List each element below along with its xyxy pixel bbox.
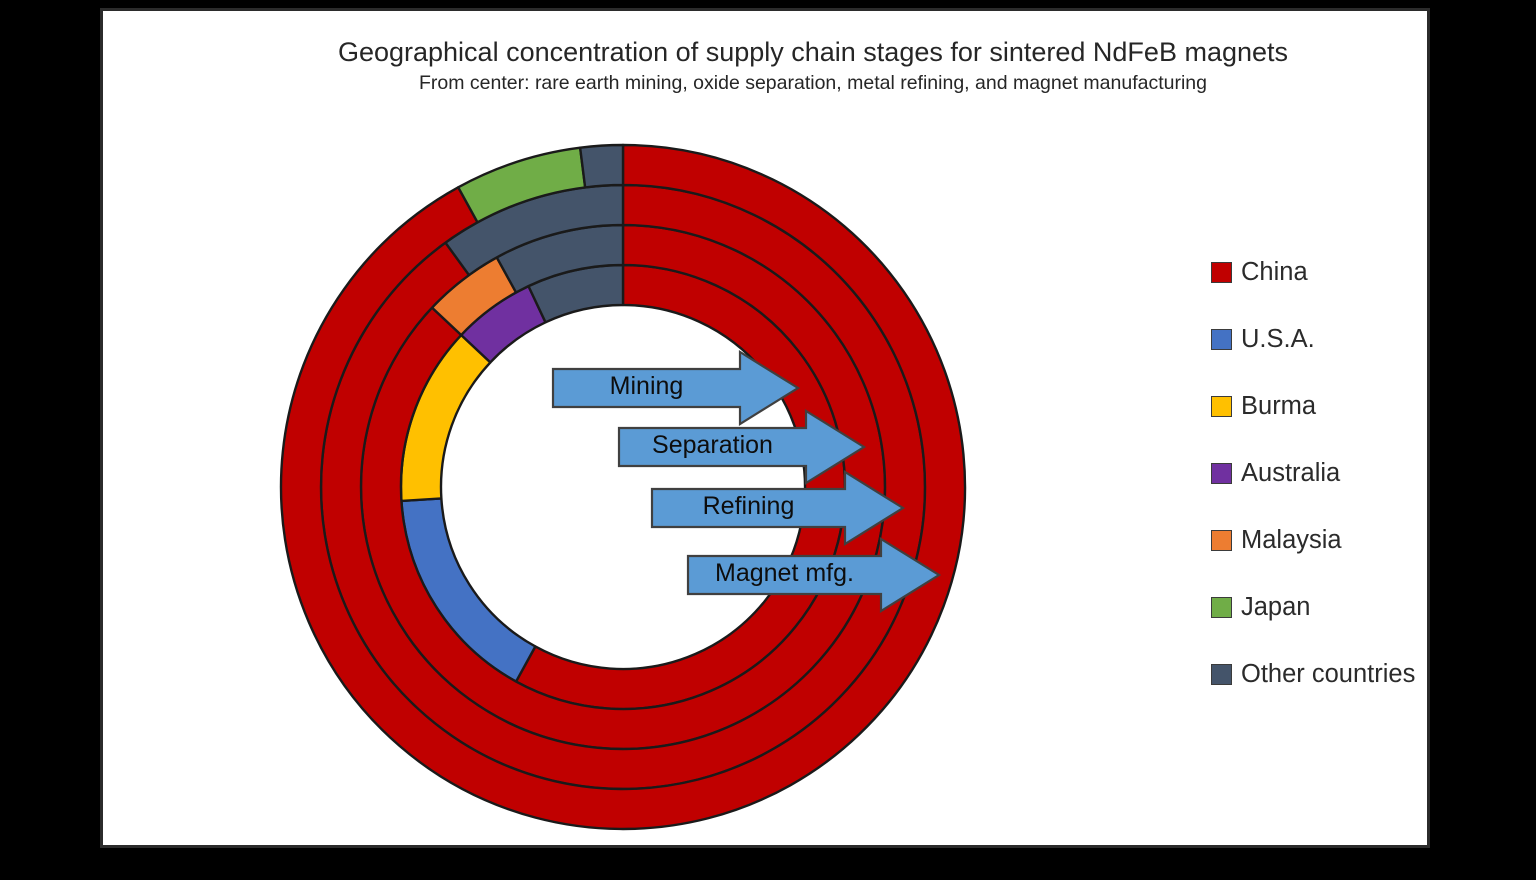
- slide-canvas: Geographical concentration of supply cha…: [100, 8, 1430, 848]
- legend-item-label: Burma: [1241, 394, 1316, 420]
- legend-swatch-icon: [1211, 396, 1232, 417]
- donut-chart-svg: [103, 11, 1143, 875]
- legend-item-other-countries[interactable]: Other countries: [1211, 641, 1511, 708]
- legend-item-japan[interactable]: Japan: [1211, 574, 1511, 641]
- legend-item-u-s-a[interactable]: U.S.A.: [1211, 306, 1511, 373]
- legend-item-malaysia[interactable]: Malaysia: [1211, 507, 1511, 574]
- legend-item-australia[interactable]: Australia: [1211, 440, 1511, 507]
- legend-item-label: U.S.A.: [1241, 327, 1315, 353]
- legend-item-china[interactable]: China: [1211, 239, 1511, 306]
- legend-item-label: Japan: [1241, 595, 1310, 621]
- legend: ChinaU.S.A.BurmaAustraliaMalaysiaJapanOt…: [1211, 239, 1511, 708]
- legend-item-label: China: [1241, 260, 1308, 286]
- legend-swatch-icon: [1211, 664, 1232, 685]
- legend-swatch-icon: [1211, 463, 1232, 484]
- legend-swatch-icon: [1211, 597, 1232, 618]
- donut-chart: MiningSeparationRefiningMagnet mfg.: [103, 11, 1143, 875]
- legend-item-label: Australia: [1241, 461, 1340, 487]
- legend-swatch-icon: [1211, 530, 1232, 551]
- donut-slice[interactable]: [580, 145, 623, 187]
- legend-item-label: Other countries: [1241, 662, 1415, 688]
- legend-item-label: Malaysia: [1241, 528, 1342, 554]
- donut-ring-mining: [401, 265, 845, 709]
- legend-swatch-icon: [1211, 262, 1232, 283]
- legend-swatch-icon: [1211, 329, 1232, 350]
- legend-item-burma[interactable]: Burma: [1211, 373, 1511, 440]
- slide-backdrop: Geographical concentration of supply cha…: [0, 0, 1536, 864]
